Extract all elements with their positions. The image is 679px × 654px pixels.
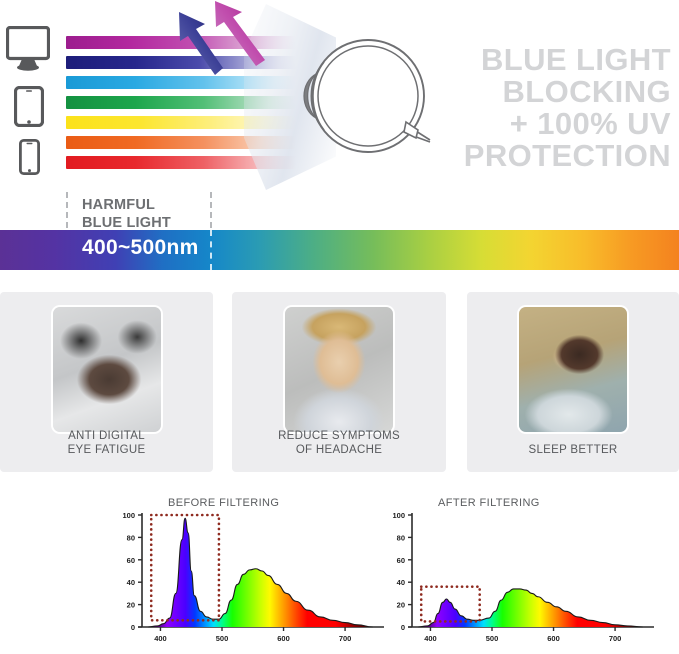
- phone-icon: [19, 139, 40, 175]
- svg-text:700: 700: [609, 634, 622, 643]
- chart-plot-area: 020406080100400500600700: [110, 509, 390, 654]
- svg-text:0: 0: [131, 623, 135, 632]
- title-line-1: BLUE LIGHT: [425, 44, 671, 76]
- caption-line-2: EYE FATIGUE: [0, 443, 213, 458]
- after-filtering-chart: AFTER FILTERING 020406080100400500600700: [380, 495, 660, 654]
- card-anti-digital-eye-fatigue[interactable]: ANTI DIGITAL EYE FATIGUE: [0, 292, 213, 472]
- svg-text:80: 80: [397, 533, 405, 542]
- card-caption: ANTI DIGITAL EYE FATIGUE: [0, 429, 213, 458]
- chart-plot-area: 020406080100400500600700: [380, 509, 660, 654]
- device-icons-group: [6, 26, 52, 171]
- before-filtering-chart: BEFORE FILTERING 02040608010040050060070…: [110, 495, 390, 654]
- svg-text:400: 400: [424, 634, 437, 643]
- svg-text:600: 600: [277, 634, 290, 643]
- caption-line-1: REDUCE SYMPTOMS: [232, 429, 446, 444]
- benefits-card-row: ANTI DIGITAL EYE FATIGUE REDUCE SYMPTOMS…: [0, 292, 679, 472]
- svg-text:500: 500: [486, 634, 499, 643]
- svg-text:20: 20: [127, 601, 135, 610]
- reflected-magenta-arrow: [215, 1, 265, 66]
- caption-line-1: ANTI DIGITAL: [0, 429, 213, 444]
- svg-text:40: 40: [127, 578, 135, 587]
- svg-text:500: 500: [216, 634, 229, 643]
- svg-text:80: 80: [127, 533, 135, 542]
- caption-line-2: OF HEADACHE: [232, 443, 446, 458]
- harmful-blue-light-label: HARMFUL BLUE LIGHT: [82, 196, 171, 232]
- hero-section: BLUE LIGHT BLOCKING + 100% UV PROTECTION: [0, 0, 679, 190]
- harmful-blue-light-section: HARMFUL BLUE LIGHT 400~500nm: [0, 192, 679, 278]
- wavelength-range-text: 400~500nm: [82, 236, 199, 260]
- card-reduce-headache[interactable]: REDUCE SYMPTOMS OF HEADACHE: [232, 292, 446, 472]
- svg-text:100: 100: [392, 511, 405, 520]
- range-marker-right-overlay: [210, 230, 212, 270]
- reflected-light-arrows: [160, 0, 310, 80]
- chart-title: BEFORE FILTERING: [110, 497, 390, 509]
- blue-light-infographic: BLUE LIGHT BLOCKING + 100% UV PROTECTION…: [0, 0, 679, 654]
- man-with-headphones-rubbing-eyes-photo: [53, 307, 161, 432]
- svg-text:400: 400: [154, 634, 167, 643]
- svg-text:60: 60: [127, 556, 135, 565]
- caption-line-1: SLEEP BETTER: [467, 443, 679, 458]
- svg-text:700: 700: [339, 634, 352, 643]
- svg-text:0: 0: [401, 623, 405, 632]
- title-line-2: BLOCKING: [425, 76, 671, 108]
- harmful-label-line-1: HARMFUL: [82, 196, 171, 214]
- card-caption: SLEEP BETTER: [467, 443, 679, 458]
- man-holding-head-in-pain-photo: [285, 307, 393, 432]
- svg-text:60: 60: [397, 556, 405, 565]
- woman-sleeping-hugging-pillow-photo: [519, 307, 627, 432]
- svg-text:40: 40: [397, 578, 405, 587]
- svg-text:100: 100: [122, 511, 135, 520]
- title-line-4: PROTECTION: [425, 140, 671, 172]
- page-title: BLUE LIGHT BLOCKING + 100% UV PROTECTION: [425, 44, 671, 172]
- svg-text:600: 600: [547, 634, 560, 643]
- card-sleep-better[interactable]: SLEEP BETTER: [467, 292, 679, 472]
- eye-diagram: [296, 30, 446, 162]
- chart-title: AFTER FILTERING: [380, 497, 660, 509]
- spectral-charts-row: BEFORE FILTERING 02040608010040050060070…: [0, 495, 679, 654]
- svg-text:20: 20: [397, 601, 405, 610]
- monitor-icon: [6, 26, 50, 80]
- tablet-icon: [14, 86, 44, 127]
- card-caption: REDUCE SYMPTOMS OF HEADACHE: [232, 429, 446, 458]
- title-line-3: + 100% UV: [425, 108, 671, 140]
